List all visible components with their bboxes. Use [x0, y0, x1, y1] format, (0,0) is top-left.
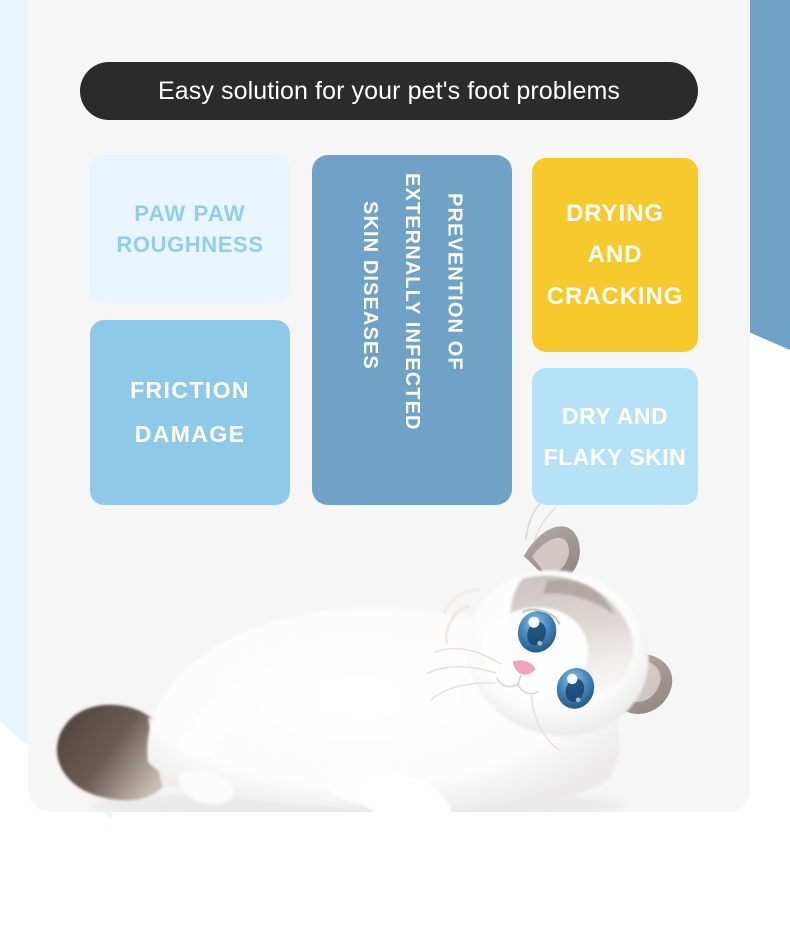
card-line: EXTERNALLY INFECTED [398, 173, 426, 431]
card-friction-damage[interactable]: FRICTION DAMAGE [90, 320, 290, 505]
card-line: PREVENTION OF [440, 193, 468, 371]
card-paw-paw-roughness[interactable]: PAW PAW ROUGHNESS [90, 155, 290, 303]
card-line: ROUGHNESS [116, 229, 263, 260]
promo-banner: Easy solution for your pet's foot proble… [0, 0, 790, 945]
card-line: AND [588, 234, 643, 275]
benefit-card-grid: PAW PAW ROUGHNESS FRICTION DAMAGE PREVEN… [28, 0, 750, 812]
card-line: DRY AND [562, 396, 668, 437]
card-line: FLAKY SKIN [544, 437, 687, 478]
content-panel: Easy solution for your pet's foot proble… [28, 0, 750, 812]
headline-text: Easy solution for your pet's foot proble… [158, 77, 620, 106]
card-line: CRACKING [547, 276, 684, 317]
card-dry-and-flaky-skin[interactable]: DRY AND FLAKY SKIN [532, 368, 698, 505]
card-line: SKIN DISEASES [355, 201, 383, 370]
card-line: DRYING [566, 193, 664, 234]
card-line: FRICTION [130, 369, 250, 413]
card-drying-and-cracking[interactable]: DRYING AND CRACKING [532, 158, 698, 352]
card-line: DAMAGE [135, 413, 246, 457]
headline-banner: Easy solution for your pet's foot proble… [80, 62, 698, 120]
card-line: PAW PAW [134, 198, 245, 229]
vertical-text-group: PREVENTION OF EXTERNALLY INFECTED SKIN D… [312, 155, 512, 505]
card-prevention-skin-diseases[interactable]: PREVENTION OF EXTERNALLY INFECTED SKIN D… [312, 155, 512, 505]
